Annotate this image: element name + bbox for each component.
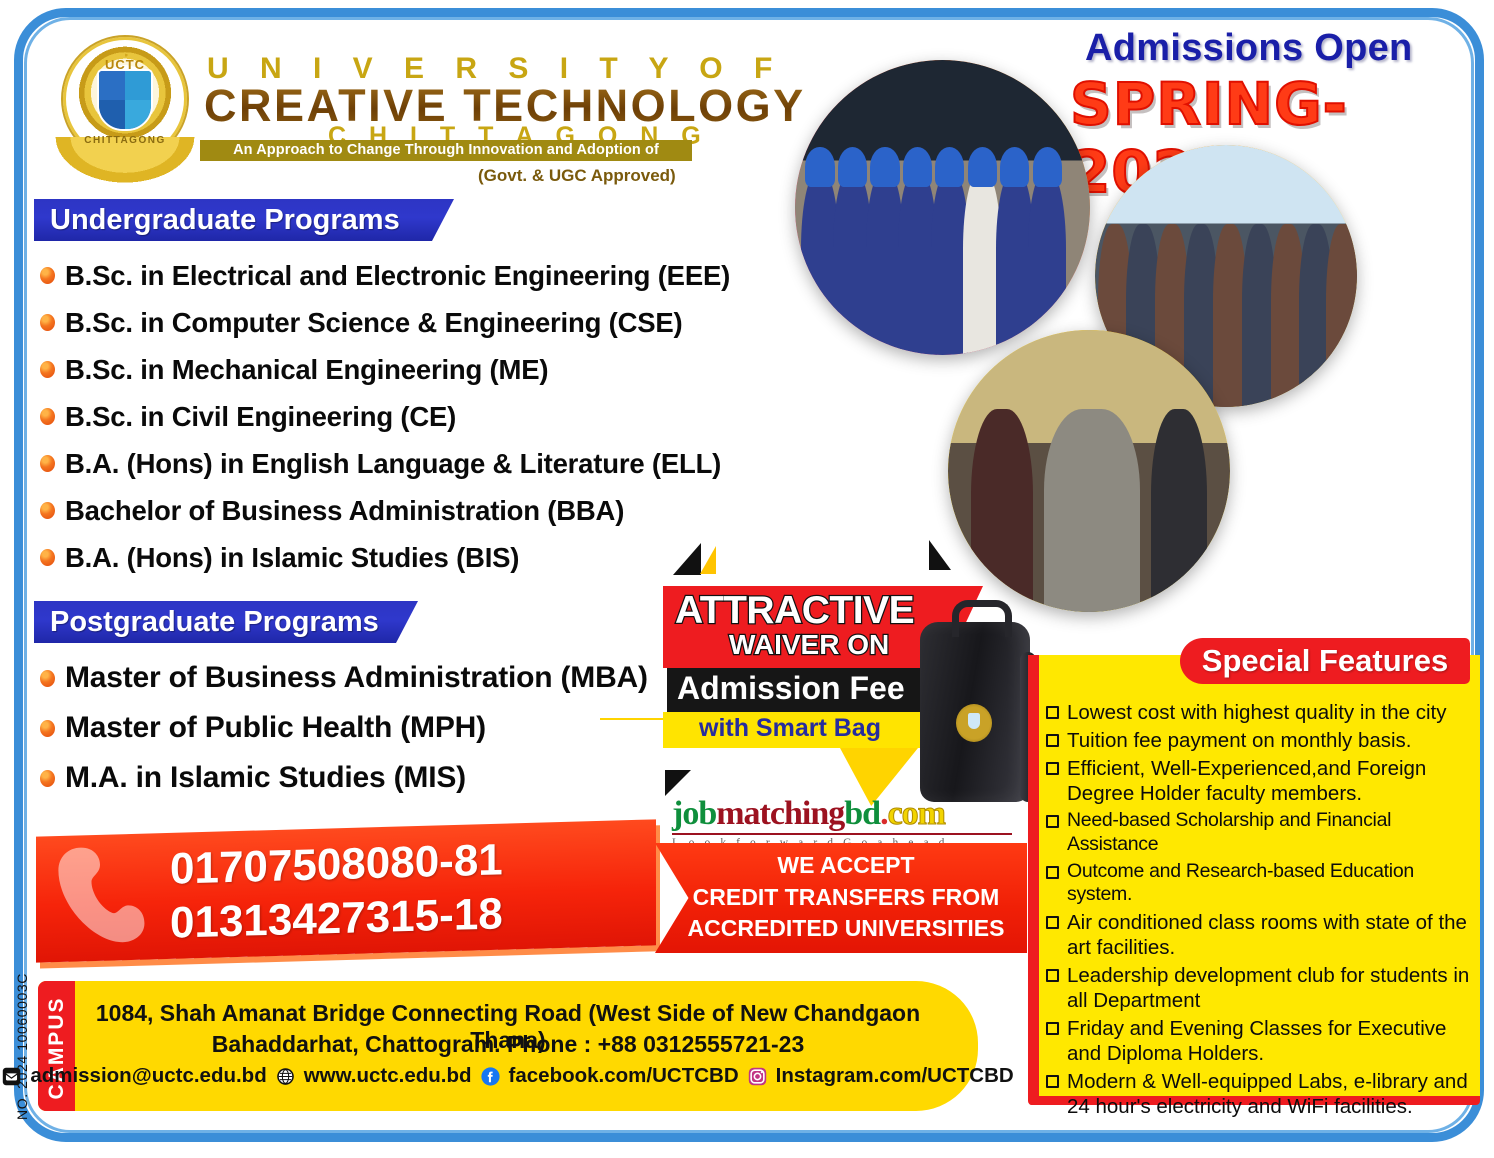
approval-note: (Govt. & UGC Approved) — [478, 166, 676, 186]
program-label: B.Sc. in Electrical and Electronic Engin… — [65, 260, 730, 292]
program-label: B.Sc. in Computer Science & Engineering … — [65, 307, 683, 339]
feature-item: Leadership development club for students… — [1046, 963, 1476, 1013]
program-item: B.A. (Hons) in English Language & Litera… — [40, 440, 730, 487]
advertisement-poster: NO. 2024 10060003C UCTC CHITTAGONG U N I… — [0, 0, 1494, 1158]
credit-line-3: ACCREDITED UNIVERSITIES — [672, 913, 1020, 945]
phone-numbers[interactable]: 01707508080-81 01313427315-18 — [170, 833, 503, 950]
bullet-icon — [40, 720, 55, 737]
checkbox-icon — [1046, 734, 1059, 747]
checkbox-icon — [1046, 1022, 1059, 1035]
waiver-line2: WAIVER ON — [729, 629, 889, 661]
feature-label: Leadership development club for students… — [1067, 963, 1476, 1013]
special-features-title: Special Features — [1180, 638, 1470, 684]
sponsor-brand-text: jobmatchingbd.com — [672, 797, 1012, 831]
checkbox-icon — [1046, 1075, 1059, 1088]
bullet-icon — [40, 314, 55, 331]
admissions-open-label: Admissions Open — [1085, 27, 1413, 70]
bullet-icon — [40, 361, 55, 378]
feature-label: Modern & Well-equipped Labs, e-library a… — [1067, 1069, 1476, 1119]
bullet-icon — [40, 549, 55, 566]
program-item: B.Sc. in Electrical and Electronic Engin… — [40, 252, 730, 299]
phone-number-2: 01313427315-18 — [170, 887, 503, 950]
waiver-line3: Admission Fee — [677, 670, 905, 707]
checkbox-icon — [1046, 762, 1059, 775]
bullet-icon — [40, 408, 55, 425]
feature-label: Need-based Scholarship and Financial Ass… — [1067, 809, 1476, 857]
facebook-icon — [481, 1067, 500, 1086]
feature-label: Outcome and Research-based Education sys… — [1067, 860, 1476, 908]
undergraduate-heading: Undergraduate Programs — [34, 199, 454, 241]
phone-handset-icon — [52, 842, 148, 946]
feature-item: Modern & Well-equipped Labs, e-library a… — [1046, 1069, 1476, 1119]
checkbox-icon — [1046, 866, 1059, 879]
undergraduate-program-list: B.Sc. in Electrical and Electronic Engin… — [40, 252, 730, 581]
crest-shield-icon — [97, 69, 153, 131]
arrow-accent-icon — [673, 543, 701, 575]
program-item: Bachelor of Business Administration (BBA… — [40, 487, 730, 534]
checkbox-icon — [1046, 969, 1059, 982]
instagram-icon — [748, 1067, 767, 1086]
brand-part-job: job — [672, 795, 716, 832]
university-crest-logo: UCTC CHITTAGONG — [53, 33, 198, 195]
campus-email[interactable]: admission@uctc.edu.bd — [30, 1064, 266, 1088]
program-item: M.A. in Islamic Studies (MIS) — [40, 753, 648, 803]
phone-number-1: 01707508080-81 — [170, 833, 503, 896]
print-reference-code: NO. 2024 10060003C — [14, 920, 30, 1120]
brand-part-com: com — [888, 795, 945, 832]
globe-icon — [276, 1067, 295, 1086]
postgraduate-program-list: Master of Business Administration (MBA) … — [40, 653, 648, 803]
program-label: B.A. (Hons) in English Language & Litera… — [65, 448, 721, 480]
checkbox-icon — [1046, 916, 1059, 929]
program-label: Bachelor of Business Administration (BBA… — [65, 495, 624, 527]
feature-item: Friday and Evening Classes for Executive… — [1046, 1016, 1476, 1066]
photo-site-visit — [795, 60, 1090, 355]
postgraduate-heading: Postgraduate Programs — [34, 601, 418, 643]
sponsor-logo-jobmatchingbd[interactable]: jobmatchingbd.com L o o k f o r w a r d … — [672, 797, 1012, 849]
campus-address-line-2: Bahaddarhat, Chattogram. Phone : +88 031… — [58, 1031, 958, 1058]
program-item: B.A. (Hons) in Islamic Studies (BIS) — [40, 534, 730, 581]
bullet-icon — [40, 770, 55, 787]
credit-line-2: CREDIT TRANSFERS FROM — [672, 882, 1020, 914]
university-tagline: An Approach to Change Through Innovation… — [200, 140, 692, 161]
feature-item: Need-based Scholarship and Financial Ass… — [1046, 809, 1476, 857]
feature-item: Lowest cost with highest quality in the … — [1046, 700, 1476, 725]
feature-label: Efficient, Well-Experienced,and Foreign … — [1067, 756, 1476, 806]
feature-item: Air conditioned class rooms with state o… — [1046, 910, 1476, 960]
brand-part-dot: . — [880, 795, 888, 832]
special-features-list: Lowest cost with highest quality in the … — [1046, 700, 1476, 1122]
feature-label: Friday and Evening Classes for Executive… — [1067, 1016, 1476, 1066]
program-item: B.Sc. in Computer Science & Engineering … — [40, 299, 730, 346]
waiver-line4: with Smart Bag — [699, 714, 881, 743]
feature-label: Tuition fee payment on monthly basis. — [1067, 728, 1476, 753]
feature-item: Outcome and Research-based Education sys… — [1046, 860, 1476, 908]
crest-city-label: CHITTAGONG — [53, 135, 197, 146]
program-label: Master of Business Administration (MBA) — [65, 661, 648, 695]
program-label: Master of Public Health (MPH) — [65, 711, 486, 745]
arrow-accent-icon — [929, 540, 951, 570]
bullet-icon — [40, 267, 55, 284]
arrow-accent-yellow-icon — [700, 546, 716, 574]
program-label: B.A. (Hons) in Islamic Studies (BIS) — [65, 542, 519, 574]
bullet-icon — [40, 455, 55, 472]
program-item: Master of Public Health (MPH) — [40, 703, 648, 753]
photo-classroom-event — [948, 330, 1230, 612]
program-label: M.A. in Islamic Studies (MIS) — [65, 761, 466, 795]
bullet-icon — [40, 502, 55, 519]
program-item: Master of Business Administration (MBA) — [40, 653, 648, 703]
brand-part-matching: matching — [716, 795, 844, 832]
crest-abbreviation: UCTC — [53, 57, 197, 72]
program-item: B.Sc. in Civil Engineering (CE) — [40, 393, 730, 440]
arrow-accent-icon — [665, 770, 691, 796]
waiver-line1: ATTRACTIVE — [675, 589, 914, 633]
brand-part-bd: bd — [844, 795, 880, 832]
program-label: B.Sc. in Mechanical Engineering (ME) — [65, 354, 548, 386]
smart-bag-image — [920, 622, 1030, 802]
feature-label: Air conditioned class rooms with state o… — [1067, 910, 1476, 960]
campus-facebook[interactable]: facebook.com/UCTCBD — [509, 1064, 739, 1088]
checkbox-icon — [1046, 815, 1059, 828]
campus-contact-links: admission@uctc.edu.bd www.uctc.edu.bd fa… — [58, 1064, 958, 1088]
feature-label: Lowest cost with highest quality in the … — [1067, 700, 1476, 725]
credit-transfer-text: WE ACCEPT CREDIT TRANSFERS FROM ACCREDIT… — [672, 850, 1020, 945]
feature-item: Tuition fee payment on monthly basis. — [1046, 728, 1476, 753]
feature-item: Efficient, Well-Experienced,and Foreign … — [1046, 756, 1476, 806]
email-icon — [2, 1067, 21, 1086]
program-label: B.Sc. in Civil Engineering (CE) — [65, 401, 456, 433]
campus-instagram[interactable]: Instagram.com/UCTCBD — [776, 1064, 1014, 1088]
campus-website[interactable]: www.uctc.edu.bd — [304, 1064, 472, 1088]
bag-logo-badge — [956, 704, 992, 742]
credit-line-1: WE ACCEPT — [672, 850, 1020, 882]
bullet-icon — [40, 670, 55, 687]
program-item: B.Sc. in Mechanical Engineering (ME) — [40, 346, 730, 393]
checkbox-icon — [1046, 706, 1059, 719]
